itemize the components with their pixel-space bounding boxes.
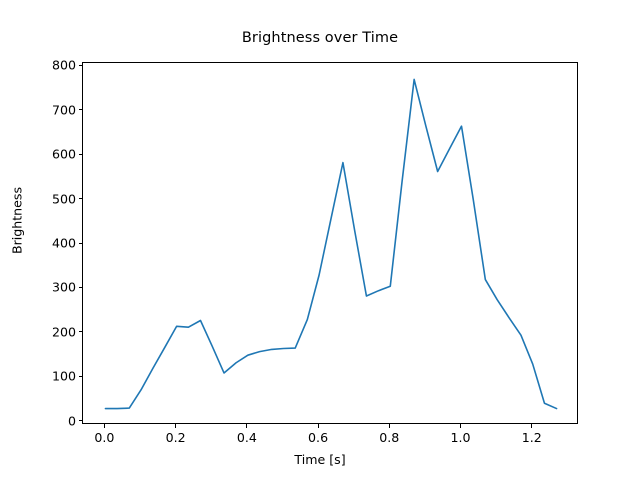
x-tick-mark bbox=[389, 424, 390, 428]
x-tick-label: 1.0 bbox=[450, 430, 470, 445]
y-tick-label: 500 bbox=[52, 191, 76, 206]
x-tick-mark bbox=[318, 424, 319, 428]
x-axis-label: Time [s] bbox=[0, 452, 640, 467]
x-tick-mark bbox=[104, 424, 105, 428]
y-tick-mark bbox=[79, 287, 83, 288]
y-tick-mark bbox=[79, 109, 83, 110]
x-tick-mark bbox=[246, 424, 247, 428]
y-tick-label: 800 bbox=[52, 58, 76, 73]
y-tick-label: 600 bbox=[52, 147, 76, 162]
plot-area bbox=[82, 62, 578, 424]
x-tick-mark bbox=[175, 424, 176, 428]
y-tick-label: 100 bbox=[52, 369, 76, 384]
y-tick-label: 0 bbox=[68, 413, 76, 428]
y-tick-mark bbox=[79, 154, 83, 155]
x-tick-mark bbox=[460, 424, 461, 428]
y-tick-label: 400 bbox=[52, 236, 76, 251]
x-tick-label: 0.2 bbox=[166, 430, 186, 445]
x-axis-tick-labels: 0.00.20.40.60.81.01.2 bbox=[0, 430, 640, 450]
x-tick-label: 0.4 bbox=[237, 430, 257, 445]
y-tick-label: 700 bbox=[52, 102, 76, 117]
y-tick-mark bbox=[79, 198, 83, 199]
y-tick-mark bbox=[79, 243, 83, 244]
figure: Brightness over Time 0100200300400500600… bbox=[0, 0, 640, 480]
y-tick-mark bbox=[79, 65, 83, 66]
x-tick-mark bbox=[531, 424, 532, 428]
x-tick-label: 1.2 bbox=[522, 430, 542, 445]
x-tick-label: 0.8 bbox=[379, 430, 399, 445]
line-plot-svg bbox=[83, 63, 579, 425]
y-tick-mark bbox=[79, 420, 83, 421]
y-tick-mark bbox=[79, 331, 83, 332]
y-tick-mark bbox=[79, 376, 83, 377]
chart-title: Brightness over Time bbox=[0, 30, 640, 46]
x-tick-label: 0.0 bbox=[94, 430, 114, 445]
y-axis-label: Brightness bbox=[10, 111, 25, 331]
y-tick-label: 300 bbox=[52, 280, 76, 295]
x-tick-label: 0.6 bbox=[308, 430, 328, 445]
brightness-line-series bbox=[105, 79, 556, 408]
y-tick-label: 200 bbox=[52, 324, 76, 339]
